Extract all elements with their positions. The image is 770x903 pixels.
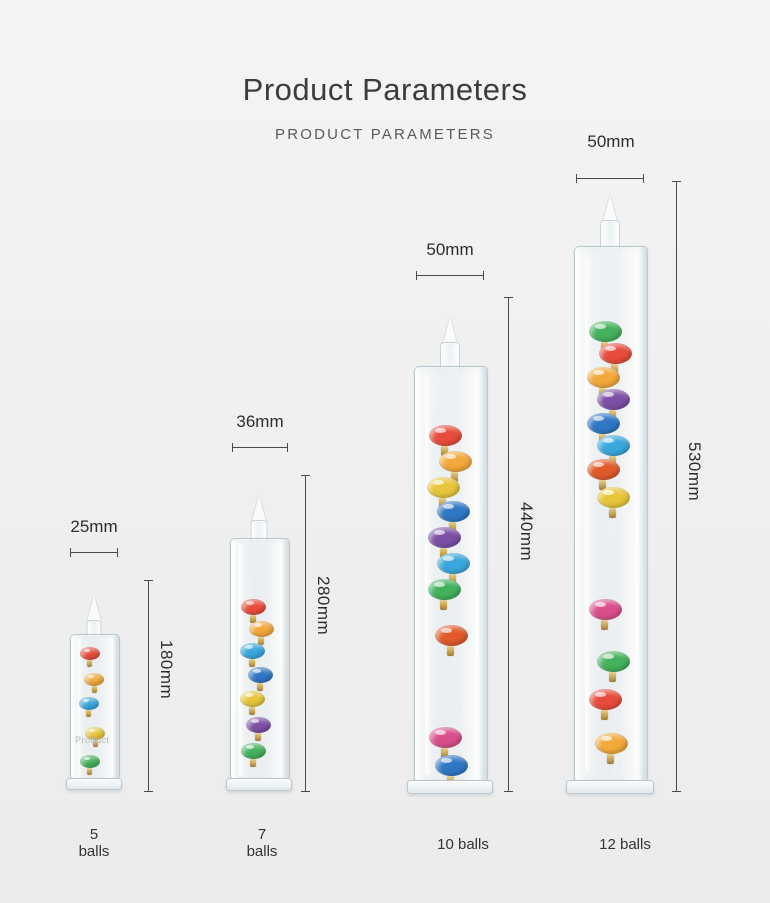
width-label-12-balls: 50mm — [560, 132, 662, 152]
thermometer-12-balls — [574, 196, 646, 792]
height-rule-10-balls — [508, 297, 509, 792]
caption-line1-12-balls: 12 balls — [570, 836, 680, 853]
height-rule-5-balls — [148, 580, 149, 792]
caption-line1-5-balls: 5 — [44, 826, 144, 843]
thermometer-10-balls — [414, 318, 486, 792]
width-rule-10-balls — [416, 275, 484, 276]
width-label-10-balls: 50mm — [400, 240, 500, 260]
caption-line1-7-balls: 7 — [212, 826, 312, 843]
width-rule-5-balls — [70, 552, 118, 553]
caption-7-balls: 7 balls — [212, 826, 312, 860]
caption-line2-5-balls: balls — [44, 843, 144, 860]
height-label-10-balls: 440mm — [516, 502, 536, 561]
height-label-5-balls: 180mm — [156, 640, 176, 699]
page-canvas: Product Parameters PRODUCT PARAMETERS 25… — [0, 0, 770, 903]
caption-line1-10-balls: 10 balls — [408, 836, 518, 853]
caption-12-balls: 12 balls — [570, 836, 680, 853]
width-label-5-balls: 25mm — [48, 517, 140, 537]
page-title: Product Parameters — [0, 72, 770, 108]
height-rule-7-balls — [305, 475, 306, 792]
height-label-7-balls: 280mm — [313, 576, 333, 635]
caption-5-balls: 5 balls — [44, 826, 144, 860]
watermark-text: Product — [75, 735, 110, 745]
caption-10-balls: 10 balls — [408, 836, 518, 853]
height-rule-12-balls — [676, 181, 677, 792]
height-label-12-balls: 530mm — [684, 442, 704, 501]
caption-line2-7-balls: balls — [212, 843, 312, 860]
width-rule-12-balls — [576, 178, 644, 179]
width-label-7-balls: 36mm — [210, 412, 310, 432]
thermometer-5-balls — [70, 596, 118, 792]
width-rule-7-balls — [232, 447, 288, 448]
thermometer-7-balls — [230, 496, 288, 792]
